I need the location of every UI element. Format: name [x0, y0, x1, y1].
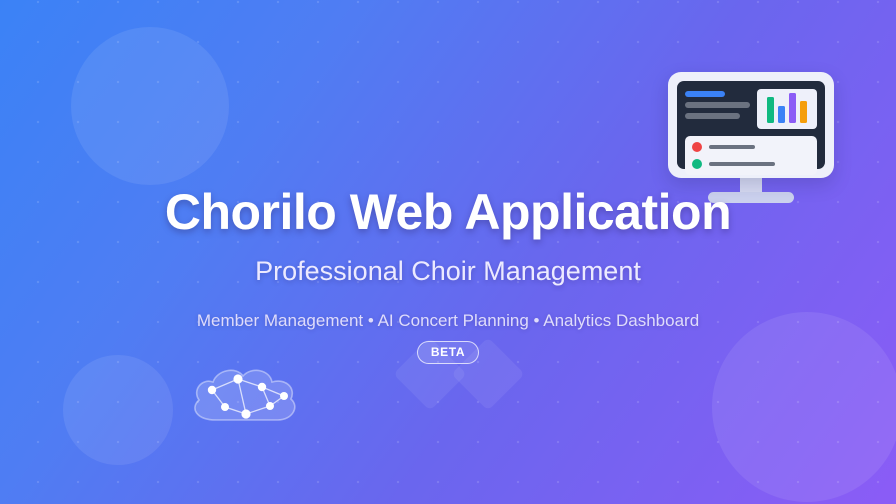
- screen-text-lines: [685, 89, 750, 129]
- status-dot-red: [692, 142, 702, 152]
- screen-list-card: [685, 136, 817, 175]
- list-item-bar: [709, 162, 775, 166]
- list-item-bar: [709, 145, 755, 149]
- status-badge: BETA: [417, 341, 479, 364]
- badge-row: BETA: [0, 341, 896, 364]
- status-dot-green: [692, 159, 702, 169]
- decorative-circle-top-left: [71, 27, 229, 185]
- hero-text-block: Chorilo Web Application Professional Cho…: [0, 186, 896, 364]
- page-title: Chorilo Web Application: [0, 186, 896, 239]
- decorative-circle-bottom-left: [63, 355, 173, 465]
- list-item: [692, 159, 810, 169]
- placeholder-line: [685, 113, 740, 119]
- chart-bar: [789, 93, 796, 123]
- monitor-illustration: [668, 72, 834, 202]
- chart-bar: [767, 97, 774, 123]
- placeholder-line: [685, 102, 750, 108]
- chart-bar: [778, 106, 785, 123]
- monitor-frame: [668, 72, 834, 178]
- screen-top-section: [685, 89, 817, 129]
- accent-line: [685, 91, 725, 97]
- chart-bar: [800, 101, 807, 123]
- mini-bar-chart: [757, 89, 817, 129]
- feature-list: Member Management • AI Concert Planning …: [0, 311, 896, 331]
- list-item: [692, 142, 810, 152]
- hero-banner: Chorilo Web Application Professional Cho…: [0, 0, 896, 504]
- monitor-screen: [677, 81, 825, 169]
- cloud-network-svg: [186, 362, 304, 434]
- cloud-network-illustration: [186, 362, 304, 434]
- page-subtitle: Professional Choir Management: [0, 256, 896, 287]
